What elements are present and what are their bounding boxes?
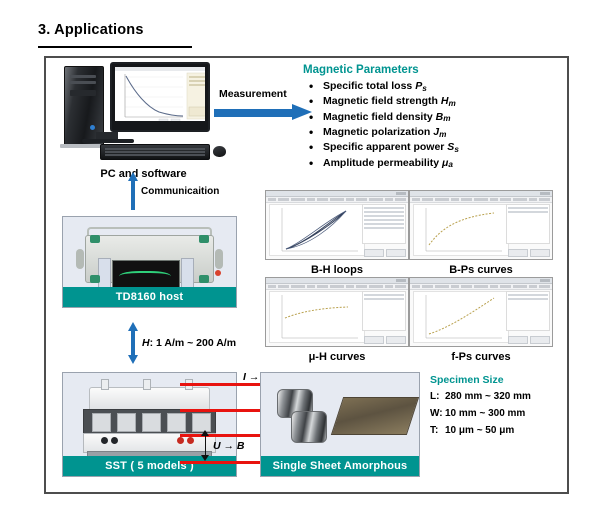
specimen-size-row: L:280 mm ~ 320 mm xyxy=(430,391,555,402)
thumbnail-plot-area xyxy=(413,204,509,256)
thumbnail-label: f-Ps curves xyxy=(409,351,553,363)
thumbnail-label: B-H loops xyxy=(265,264,409,276)
specimen-size-key: T: xyxy=(430,425,445,436)
page-title: 3. Applications xyxy=(38,22,144,38)
voltage-flux-label: U → B xyxy=(213,440,245,452)
field-range-arrow-icon xyxy=(128,322,138,364)
thumbnail-menubar xyxy=(410,284,552,290)
td8160-host-caption: TD8160 host xyxy=(63,287,236,307)
title-underline xyxy=(38,46,192,48)
communication-label: Communicaition xyxy=(141,186,219,197)
magnetic-parameters-block: Magnetic Parameters •Specific total loss… xyxy=(303,64,553,172)
thumbnail-plot-area xyxy=(413,291,509,343)
bullet-icon: • xyxy=(309,95,323,109)
magnetic-parameters-title: Magnetic Parameters xyxy=(303,64,553,76)
bullet-icon: • xyxy=(309,126,323,140)
magnetic-parameters-list: •Specific total loss Ps•Magnetic field s… xyxy=(303,80,553,171)
amorphous-sheet-image xyxy=(331,397,419,435)
td8160-host-panel: TD8160 host xyxy=(62,216,237,308)
parameter-text: Magnetic field density Bm xyxy=(323,111,553,125)
thumbnail-menubar xyxy=(266,197,408,203)
monitor-chart-graphic xyxy=(115,67,205,121)
monitor-icon xyxy=(110,62,210,132)
parameter-name: Amplitude permeability xyxy=(323,157,442,169)
bullet-icon: • xyxy=(309,111,323,125)
bps-curve-graphic xyxy=(414,205,506,257)
communication-arrow-icon xyxy=(128,172,138,210)
wire-u-b-top xyxy=(237,434,260,437)
sst-caption: SST ( 5 models ) xyxy=(63,456,236,476)
monitor-stand xyxy=(96,132,118,139)
thumbnail-data-table xyxy=(362,291,406,331)
wire-u-b-bottom xyxy=(237,461,260,464)
host-power-led xyxy=(215,270,221,276)
thumbnail-window xyxy=(409,277,553,347)
field-range-label: H: 1 A/m ~ 200 A/m xyxy=(142,337,236,349)
sst-yoke-assembly xyxy=(83,409,216,435)
parameter-name: Magnetic polarization xyxy=(323,126,433,138)
parameter-item: •Magnetic field strength Hm xyxy=(309,95,553,109)
thumbnail-menubar xyxy=(410,197,552,203)
thumbnail-mu-h-curves[interactable]: μ-H curves xyxy=(265,277,409,363)
parameter-text: Magnetic field strength Hm xyxy=(323,95,553,109)
voltage-flux-arrow-icon xyxy=(201,430,210,461)
field-symbol: H xyxy=(142,337,150,349)
bullet-icon: • xyxy=(309,157,323,171)
f-ps-curve-graphic xyxy=(414,292,506,344)
parameter-subscript: m xyxy=(439,130,446,139)
thumbnail-window xyxy=(265,277,409,347)
wire-sst-u-b-bottom xyxy=(180,461,237,464)
bullet-icon: • xyxy=(309,80,323,94)
parameter-item: •Amplitude permeability μa xyxy=(309,157,553,171)
specimen-size-rows: L:280 mm ~ 320 mmW:10 mm ~ 300 mmT:10 μm… xyxy=(430,391,555,436)
bullet-icon: • xyxy=(309,141,323,155)
thumbnail-window xyxy=(265,190,409,260)
td8160-host-image xyxy=(77,223,222,285)
parameter-text: Specific apparent power Ss xyxy=(323,141,553,155)
parameter-text: Amplitude permeability μa xyxy=(323,157,553,171)
pc-and-software-image xyxy=(56,62,231,167)
thumbnail-data-table xyxy=(362,204,406,244)
parameter-subscript: m xyxy=(443,114,450,123)
parameter-subscript: a xyxy=(448,160,453,169)
thumbnail-data-table xyxy=(506,204,550,244)
parameter-subscript: m xyxy=(448,99,455,108)
specimen-size-key: L: xyxy=(430,391,445,402)
host-body xyxy=(85,235,214,283)
bh-loop-graphic xyxy=(270,205,362,257)
specimen-panel: Single Sheet Amorphous xyxy=(260,372,420,477)
field-range-value: : 1 A/m ~ 200 A/m xyxy=(150,337,236,349)
parameter-subscript: s xyxy=(422,84,427,93)
thumbnail-plot-area xyxy=(269,291,365,343)
specimen-size-block: Specimen Size L:280 mm ~ 320 mmW:10 mm ~… xyxy=(430,374,555,442)
thumbnail-data-table xyxy=(506,291,550,331)
pc-label: PC and software xyxy=(56,168,231,180)
thumbnail-label: μ-H curves xyxy=(265,351,409,363)
parameter-item: •Specific apparent power Ss xyxy=(309,141,553,155)
wire-sst-i-h-bottom xyxy=(180,409,237,412)
measurement-arrow-icon xyxy=(214,104,312,120)
specimen-size-row: T:10 μm ~ 50 μm xyxy=(430,425,555,436)
sst-top-cover xyxy=(89,387,210,411)
wire-i-h-top xyxy=(237,383,260,386)
specimen-caption: Single Sheet Amorphous xyxy=(261,456,419,476)
parameter-item: •Magnetic field density Bm xyxy=(309,111,553,125)
specimen-size-key: W: xyxy=(430,408,445,419)
parameter-name: Magnetic field strength xyxy=(323,95,441,107)
thumbnail-label: B-Ps curves xyxy=(409,264,553,276)
measurement-label: Measurement xyxy=(219,88,287,100)
keyboard-icon xyxy=(100,144,210,160)
thumbnail-f-ps-curves[interactable]: f-Ps curves xyxy=(409,277,553,363)
specimen-size-row: W:10 mm ~ 300 mm xyxy=(430,408,555,419)
wire-sst-i-h-top xyxy=(180,383,237,386)
parameter-name: Specific total loss xyxy=(323,80,415,92)
parameter-name: Specific apparent power xyxy=(323,141,447,153)
amorphous-ribbon-coil-image xyxy=(275,389,329,447)
parameter-text: Magnetic polarization Jm xyxy=(323,126,553,140)
wire-i-h-bottom xyxy=(237,409,260,412)
thumbnail-menubar xyxy=(266,284,408,290)
specimen-size-value: 10 mm ~ 300 mm xyxy=(445,408,525,419)
monitor-screen xyxy=(115,67,205,121)
specimen-size-title: Specimen Size xyxy=(430,374,555,386)
thumbnail-plot-area xyxy=(269,204,365,256)
mouse-icon xyxy=(213,146,226,157)
thumbnail-bps-curves[interactable]: B-Ps curves xyxy=(409,190,553,276)
thumbnail-bh-loops[interactable]: B-H loops xyxy=(265,190,409,276)
specimen-size-value: 280 mm ~ 320 mm xyxy=(445,391,531,402)
thumbnail-window xyxy=(409,190,553,260)
parameter-item: •Specific total loss Ps xyxy=(309,80,553,94)
specimen-size-value: 10 μm ~ 50 μm xyxy=(445,425,514,436)
parameter-item: •Magnetic polarization Jm xyxy=(309,126,553,140)
parameter-name: Magnetic field density xyxy=(323,111,436,123)
mu-h-curve-graphic xyxy=(270,292,362,344)
parameter-text: Specific total loss Ps xyxy=(323,80,553,94)
monitor-foot xyxy=(82,139,134,143)
parameter-subscript: s xyxy=(454,145,459,154)
